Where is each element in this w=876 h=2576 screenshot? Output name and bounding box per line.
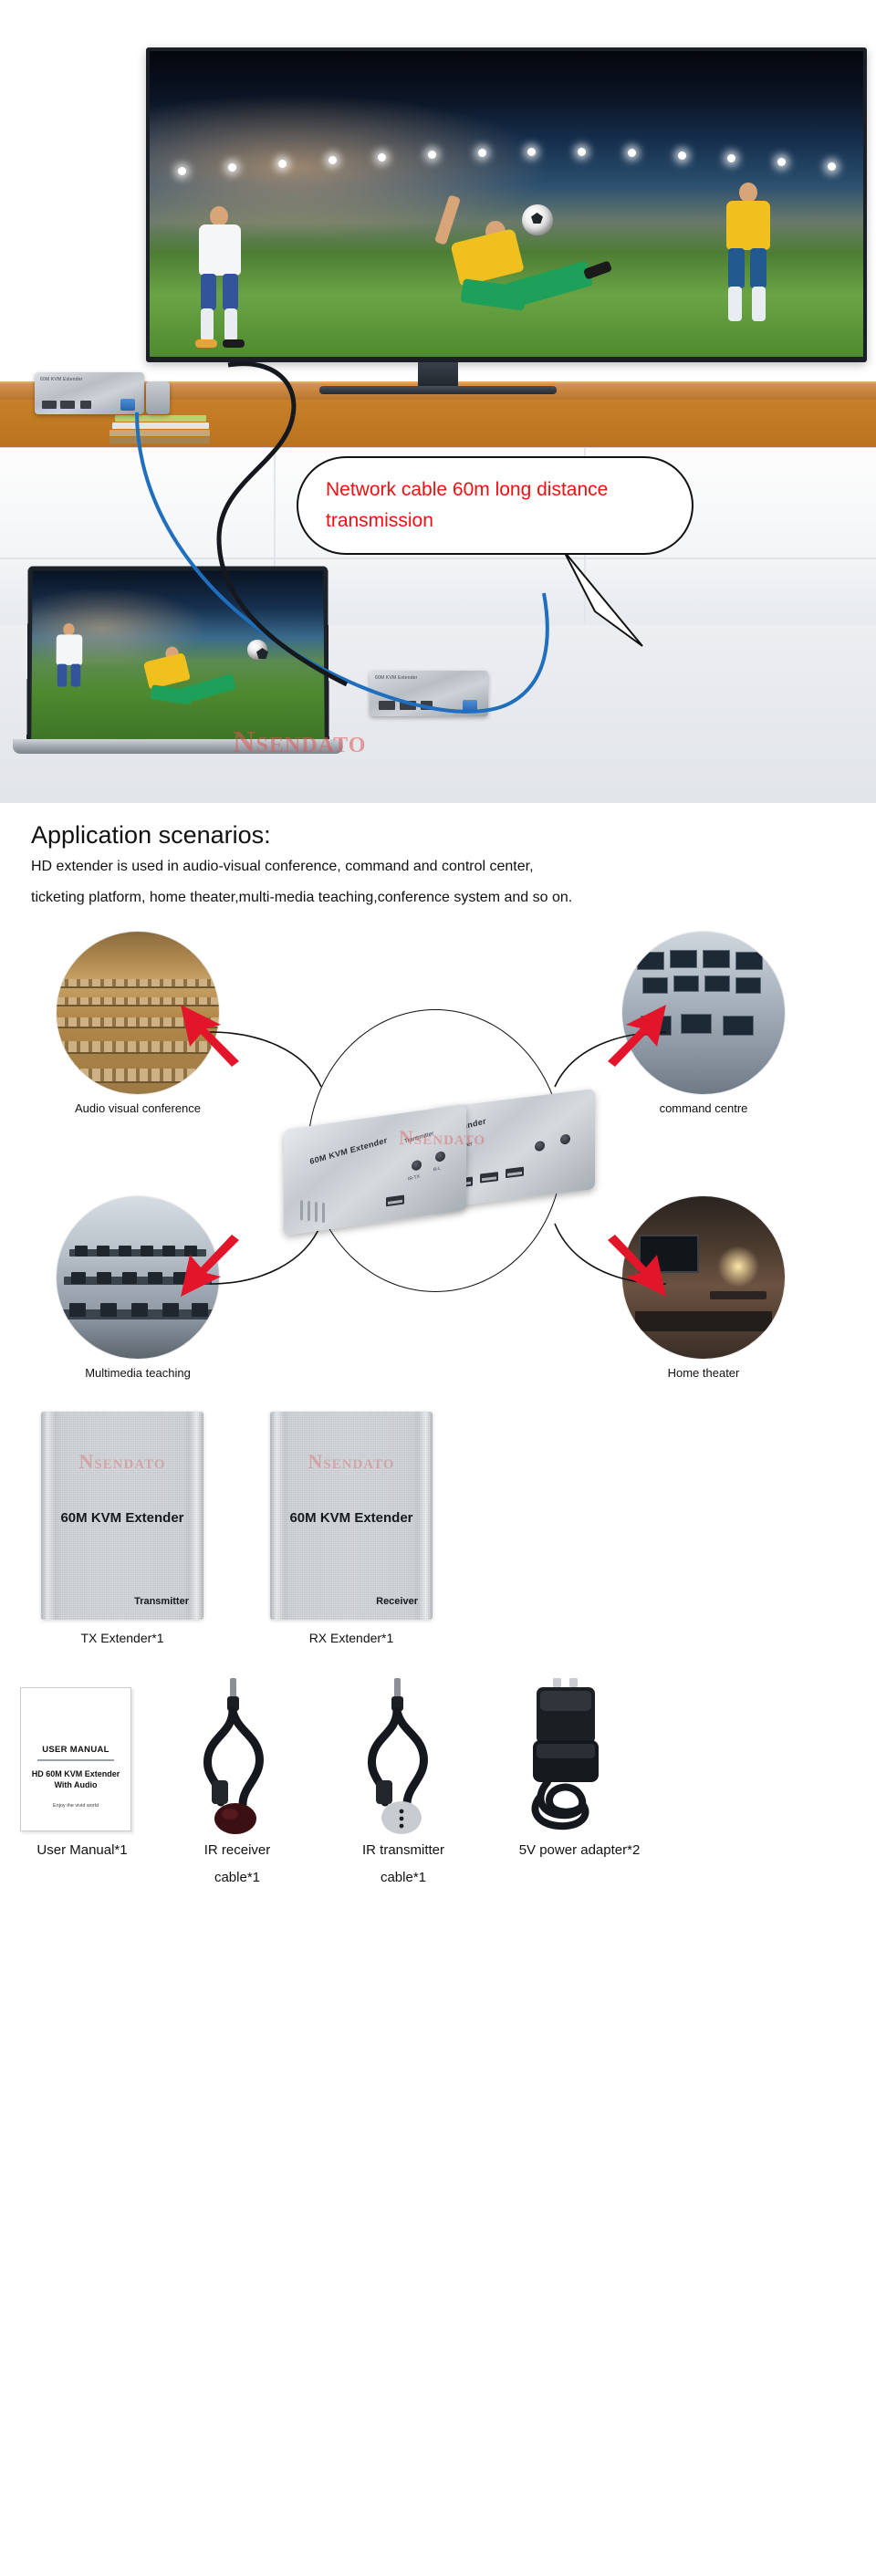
center-device-transmitter: 60M KVM Extender Transmitter IR-TX R-L [284, 1104, 466, 1236]
product-title-tx: 60M KVM Extender [41, 1510, 203, 1526]
product-card-rx: Nsendato 60M KVM Extender Receiver [270, 1412, 433, 1620]
package-product-cards: Nsendato 60M KVM Extender Transmitter TX… [0, 1412, 876, 1676]
accessories-row: USER MANUAL HD 60M KVM Extender With Aud… [0, 1676, 876, 1914]
caption-line-1: User Manual*1 [0, 1837, 164, 1864]
television [146, 47, 867, 362]
tx-port-rl-label: R-L [433, 1165, 442, 1173]
caption-line-2: cable*1 [321, 1864, 485, 1892]
accessory-caption-ir-receiver: IR receiver cable*1 [155, 1837, 319, 1892]
product-caption-rx: RX Extender*1 [270, 1631, 433, 1645]
product-caption-tx: TX Extender*1 [41, 1631, 203, 1645]
tv-screen-content [150, 51, 863, 357]
tx-port-ir-tx-label: IR-TX [408, 1173, 421, 1182]
scenario-diagram: Audio visual conference command c [31, 923, 845, 1397]
product-watermark-rx: Nsendato [308, 1450, 394, 1474]
center-device-watermark: Nsendato [399, 1126, 485, 1150]
accessory-caption-power-adapter: 5V power adapter*2 [474, 1837, 684, 1864]
product-title-rx: 60M KVM Extender [270, 1510, 433, 1526]
caption-line-2: cable*1 [155, 1864, 319, 1892]
hero-watermark: Nsendato [233, 725, 366, 760]
ir-receiver-cable-graphic [164, 1676, 310, 1841]
arrow-to-audio-visual-conference [166, 1001, 245, 1067]
accessory-power-adapter [493, 1676, 657, 1845]
caption-line-1: IR transmitter [321, 1837, 485, 1864]
ir-transmitter-cable-graphic [328, 1676, 474, 1841]
hero-scene: 60M KVM Extender 60M KVM Extender [0, 0, 876, 803]
section-description-line-2: ticketing platform, home theater,multi-m… [31, 884, 845, 912]
arrow-to-home-theater [602, 1235, 681, 1300]
product-card-tx: Nsendato 60M KVM Extender Transmitter [41, 1412, 203, 1620]
power-adapter-graphic [493, 1676, 657, 1841]
arrow-to-multimedia-teaching [166, 1235, 245, 1300]
manual-footer: Enjoy the vivid world [21, 1803, 130, 1809]
caption-line-1: 5V power adapter*2 [474, 1837, 684, 1864]
section-title: Application scenarios: [31, 803, 845, 850]
soccer-ball [522, 204, 553, 235]
application-scenarios-section: Application scenarios: HD extender is us… [0, 803, 876, 1397]
manual-subtitle-line-2: With Audio [21, 1779, 130, 1790]
callout-tail [558, 548, 695, 675]
manual-subtitle-line-1: HD 60M KVM Extender [21, 1768, 130, 1779]
accessory-ir-transmitter-cable [328, 1676, 474, 1845]
callout-bubble: Network cable 60m long distance transmis… [297, 456, 693, 555]
manual-heading: USER MANUAL [21, 1745, 130, 1755]
accessory-caption-ir-transmitter: IR transmitter cable*1 [321, 1837, 485, 1892]
product-detail-page: 60M KVM Extender 60M KVM Extender [0, 0, 876, 2576]
caption-line-1: IR receiver [155, 1837, 319, 1864]
manual-cover: USER MANUAL HD 60M KVM Extender With Aud… [20, 1687, 131, 1831]
accessory-ir-receiver-cable [164, 1676, 310, 1845]
stadium-lights [150, 143, 863, 158]
product-role-tx: Transmitter [134, 1596, 189, 1607]
center-device-pair: Extender Receiver 60M KVM Extender Trans… [264, 1082, 620, 1228]
product-watermark-tx: Nsendato [78, 1450, 165, 1474]
section-description-line-1: HD extender is used in audio-visual conf… [31, 853, 845, 881]
callout-line-1: Network cable 60m long distance [326, 475, 664, 506]
tx-brand-label: 60M KVM Extender [309, 1135, 388, 1166]
product-role-rx: Receiver [376, 1596, 418, 1607]
arrow-to-command-centre [602, 1001, 681, 1067]
callout-line-2: transmission [326, 506, 664, 537]
accessory-caption-user-manual: User Manual*1 [0, 1837, 164, 1864]
manual-rule [37, 1759, 114, 1761]
